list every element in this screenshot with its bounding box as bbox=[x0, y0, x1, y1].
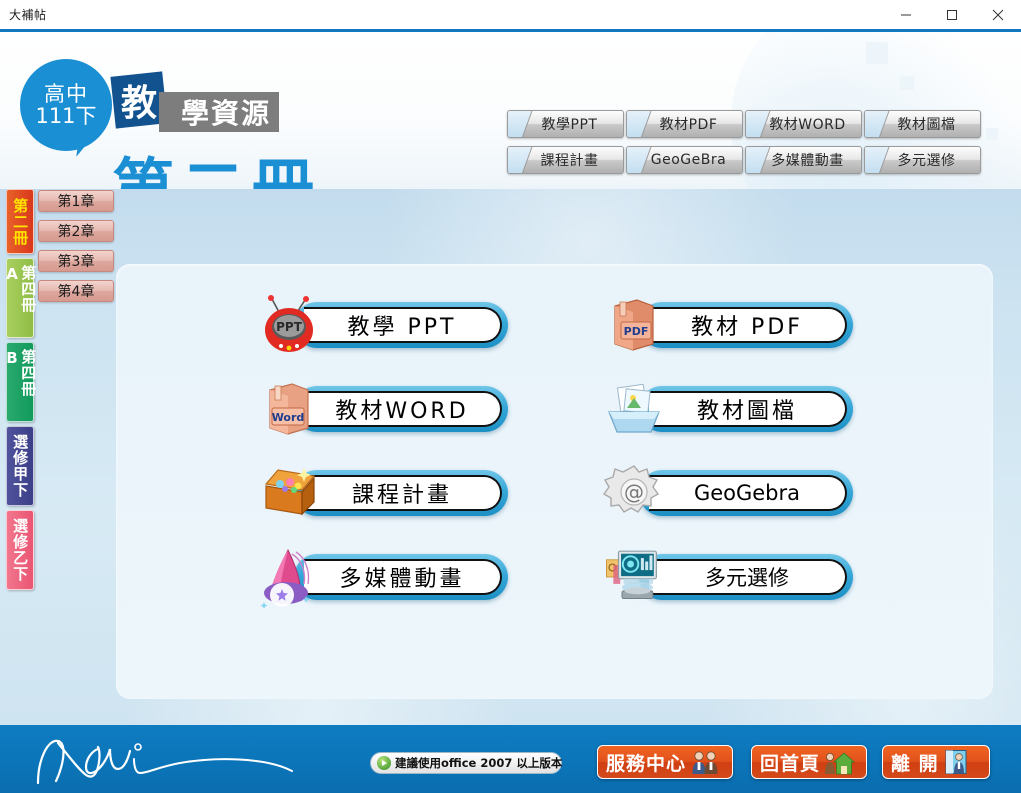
header-square-deco bbox=[900, 76, 914, 90]
office-version-note: 建議使用office 2007 以上版本 bbox=[370, 752, 562, 774]
main-btn-multimedia[interactable]: 多媒體動畫 bbox=[258, 554, 508, 600]
volume-tab-4a[interactable]: 第四冊A bbox=[6, 258, 34, 338]
volume-tab-label: 選修甲下 bbox=[12, 434, 28, 498]
window-title-bar: 大補帖 bbox=[0, 0, 1021, 29]
quick-btn-label: 教材圖檔 bbox=[890, 114, 956, 134]
main-btn-label: 教材WORD bbox=[335, 393, 468, 425]
footer-btn-exit[interactable]: 離 開 bbox=[882, 745, 990, 779]
footer-btn-service-center[interactable]: 服務中心 bbox=[597, 745, 733, 779]
button-inner-plate: 多媒體動畫 bbox=[304, 559, 502, 595]
quick-btn-label: GeoGeBra bbox=[643, 152, 726, 168]
quick-buttons-row-2: 課程計畫GeoGeBra多媒體動畫多元選修 bbox=[507, 146, 1007, 174]
volume-tab-label: 選修乙下 bbox=[12, 518, 28, 582]
main-btn-geogebra[interactable]: GeoGebra @ bbox=[603, 470, 853, 516]
main-btn-label: 課程計畫 bbox=[352, 477, 452, 509]
main-btn-label: GeoGebra bbox=[694, 481, 800, 505]
semester-label: 111下 bbox=[35, 105, 96, 127]
people-icon bbox=[690, 749, 720, 775]
button-highlight-stripe bbox=[626, 110, 653, 138]
exit-door-icon bbox=[943, 749, 969, 775]
quick-btn-images[interactable]: 教材圖檔 bbox=[864, 110, 981, 138]
volume-tabs: 第二冊第四冊A第四冊B選修甲下選修乙下 bbox=[6, 189, 34, 594]
chapter-list: 第1章第2章第3章第4章 bbox=[38, 190, 114, 310]
volume-tab-label: 第二冊 bbox=[12, 198, 28, 246]
quick-btn-plan[interactable]: 課程計畫 bbox=[507, 146, 624, 174]
svg-text:@: @ bbox=[624, 480, 644, 504]
volume-tab-elective-b[interactable]: 選修乙下 bbox=[6, 510, 34, 590]
app-header: 高中 111下 教 學資源 第二冊 教學PPT教材PDF教材WORD教材圖檔 課… bbox=[0, 32, 1021, 189]
book-pdf-icon: PDF bbox=[603, 294, 665, 356]
main-btn-label: 多元選修 bbox=[705, 562, 789, 592]
nani-logo bbox=[30, 733, 310, 785]
quick-btn-ppt[interactable]: 教學PPT bbox=[507, 110, 624, 138]
volume-tab-4b[interactable]: 第四冊B bbox=[6, 342, 34, 422]
button-inner-plate: 教材圖檔 bbox=[649, 391, 847, 427]
resource-button-grid: 教學 PPT PPT 教材 PDF PDF 教材WORD Word 教材圖檔 bbox=[116, 264, 993, 699]
footer-btn-label: 服務中心 bbox=[606, 749, 686, 776]
grade-bubble: 高中 111下 bbox=[20, 59, 112, 151]
magic-hat-icon bbox=[258, 546, 320, 608]
logo-subtitle-text: 學資源 bbox=[181, 92, 271, 132]
monitor-icon bbox=[603, 546, 665, 608]
grade-label: 高中 bbox=[44, 83, 88, 105]
quick-btn-elective[interactable]: 多元選修 bbox=[864, 146, 981, 174]
button-inner-plate: 教學 PPT bbox=[304, 307, 502, 343]
main-btn-course-plan[interactable]: 課程計畫 bbox=[258, 470, 508, 516]
volume-tab-2[interactable]: 第二冊 bbox=[6, 189, 34, 254]
minimize-icon[interactable] bbox=[883, 0, 929, 29]
logo-mark-text: 教 bbox=[121, 74, 157, 126]
chapter-1[interactable]: 第1章 bbox=[38, 190, 114, 212]
main-btn-material-image[interactable]: 教材圖檔 bbox=[603, 386, 853, 432]
button-inner-plate: GeoGebra bbox=[649, 475, 847, 511]
chapter-label: 第1章 bbox=[58, 191, 95, 211]
main-btn-material-word[interactable]: 教材WORD Word bbox=[258, 386, 508, 432]
logo-subtitle-bar: 學資源 bbox=[159, 92, 279, 132]
chapter-2[interactable]: 第2章 bbox=[38, 220, 114, 242]
main-btn-label: 教材圖檔 bbox=[697, 393, 797, 425]
button-inner-plate: 教材WORD bbox=[304, 391, 502, 427]
gear-at-icon: @ bbox=[603, 462, 665, 524]
main-btn-elective[interactable]: 多元選修 bbox=[603, 554, 853, 600]
main-btn-material-pdf[interactable]: 教材 PDF PDF bbox=[603, 302, 853, 348]
chapter-3[interactable]: 第3章 bbox=[38, 250, 114, 272]
chapter-label: 第4章 bbox=[58, 281, 95, 301]
quick-btn-geogebra[interactable]: GeoGeBra bbox=[626, 146, 743, 174]
main-btn-label: 教材 PDF bbox=[691, 309, 803, 341]
button-inner-plate: 課程計畫 bbox=[304, 475, 502, 511]
photo-tray-icon bbox=[603, 378, 665, 440]
window-title: 大補帖 bbox=[9, 6, 47, 23]
quick-btn-animation[interactable]: 多媒體動畫 bbox=[745, 146, 862, 174]
header-square-deco bbox=[866, 42, 888, 64]
page-title: 第二冊 bbox=[112, 137, 322, 189]
svg-text:Word: Word bbox=[272, 411, 305, 424]
volume-tab-label: 第四冊B bbox=[4, 349, 36, 415]
footer-btn-label: 離 開 bbox=[891, 749, 939, 776]
chapter-4[interactable]: 第4章 bbox=[38, 280, 114, 302]
quick-access-buttons: 教學PPT教材PDF教材WORD教材圖檔 課程計畫GeoGeBra多媒體動畫多元… bbox=[507, 110, 1007, 182]
quick-buttons-row-1: 教學PPT教材PDF教材WORD教材圖檔 bbox=[507, 110, 1007, 138]
chapter-label: 第2章 bbox=[58, 221, 95, 241]
close-icon[interactable] bbox=[975, 0, 1021, 29]
button-highlight-stripe bbox=[864, 110, 891, 138]
button-inner-plate: 多元選修 bbox=[649, 559, 847, 595]
quick-btn-label: 課程計畫 bbox=[533, 150, 599, 170]
svg-text:PPT: PPT bbox=[276, 320, 303, 334]
quick-btn-label: 多媒體動畫 bbox=[763, 150, 844, 170]
quick-btn-pdf[interactable]: 教材PDF bbox=[626, 110, 743, 138]
volume-tab-label: 第四冊A bbox=[4, 265, 36, 331]
quick-btn-label: 多元選修 bbox=[890, 150, 956, 170]
quick-btn-label: 教學PPT bbox=[534, 114, 598, 134]
treasure-box-icon bbox=[258, 462, 320, 524]
button-highlight-stripe bbox=[507, 110, 534, 138]
main-btn-teaching-ppt[interactable]: 教學 PPT PPT bbox=[258, 302, 508, 348]
button-highlight-stripe bbox=[864, 146, 891, 174]
quick-btn-label: 教材WORD bbox=[761, 114, 845, 134]
quick-btn-label: 教材PDF bbox=[652, 114, 718, 134]
tv-ppt-icon: PPT bbox=[258, 294, 320, 356]
maximize-icon[interactable] bbox=[929, 0, 975, 29]
button-inner-plate: 教材 PDF bbox=[649, 307, 847, 343]
footer-btn-label: 回首頁 bbox=[760, 749, 820, 776]
volume-tab-elective-a[interactable]: 選修甲下 bbox=[6, 426, 34, 506]
chapter-label: 第3章 bbox=[58, 251, 95, 271]
main-content-area: 第二冊第四冊A第四冊B選修甲下選修乙下 第1章第2章第3章第4章 教學 PPT … bbox=[0, 189, 1021, 725]
main-btn-label: 教學 PPT bbox=[348, 309, 457, 341]
svg-text:PDF: PDF bbox=[624, 325, 649, 338]
button-highlight-stripe bbox=[507, 146, 534, 174]
home-icon bbox=[824, 749, 856, 775]
book-word-icon: Word bbox=[258, 378, 320, 440]
office-note-text: 建議使用office 2007 以上版本 bbox=[395, 755, 562, 771]
quick-btn-word[interactable]: 教材WORD bbox=[745, 110, 862, 138]
footer-btn-home[interactable]: 回首頁 bbox=[751, 745, 867, 779]
play-icon bbox=[377, 756, 391, 770]
window-controls bbox=[883, 0, 1021, 29]
main-btn-label: 多媒體動畫 bbox=[339, 561, 464, 593]
main-panel: 教學 PPT PPT 教材 PDF PDF 教材WORD Word 教材圖檔 bbox=[116, 264, 993, 699]
